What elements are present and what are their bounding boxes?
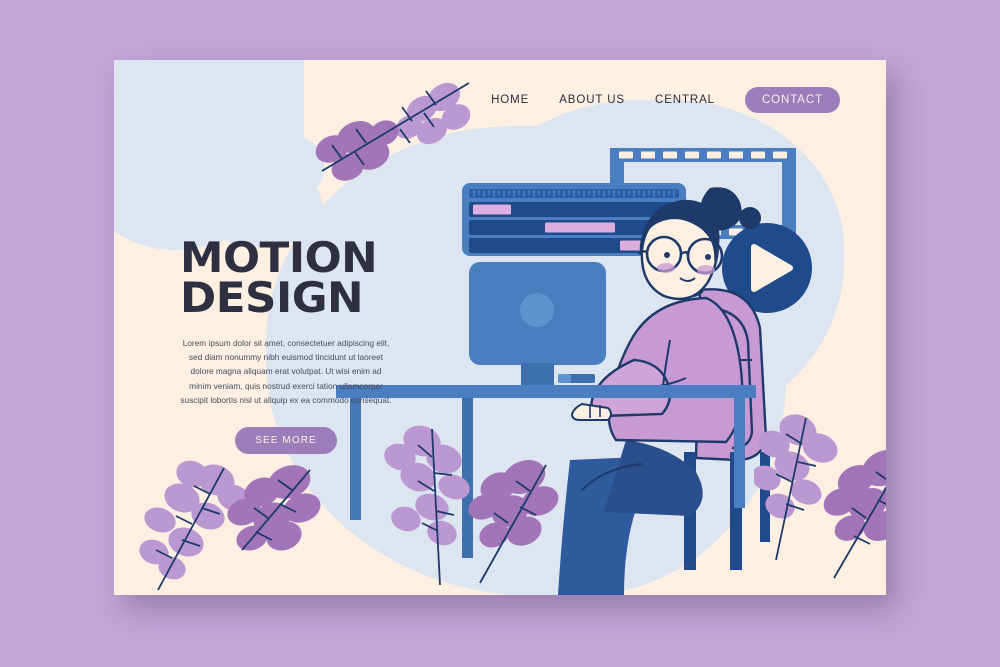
page-title-line-2: DESIGN	[180, 278, 400, 318]
nav-link-central[interactable]: CENTRAL	[655, 94, 715, 106]
landing-page-card: HOME ABOUT US CENTRAL CONTACT MOTION DES…	[114, 60, 886, 595]
page-root: HOME ABOUT US CENTRAL CONTACT MOTION DES…	[0, 0, 1000, 667]
leaf-branch-top-left	[304, 75, 474, 195]
main-navigation: HOME ABOUT US CENTRAL CONTACT	[491, 87, 840, 113]
page-title: MOTION DESIGN	[180, 238, 400, 318]
hero-section: MOTION DESIGN Lorem ipsum dolor sit amet…	[180, 238, 392, 454]
page-title-line-1: MOTION	[180, 238, 400, 278]
contact-button[interactable]: CONTACT	[745, 87, 840, 113]
leaf-branch-bottom-middle	[384, 415, 574, 590]
hero-body-text: Lorem ipsum dolor sit amet, consectetuer…	[180, 336, 392, 407]
monitor-graphic	[470, 263, 605, 385]
leaf-branch-bottom-left	[124, 450, 334, 595]
nav-link-home[interactable]: HOME	[491, 94, 529, 106]
see-more-button[interactable]: SEE MORE	[235, 427, 337, 454]
keyboard-graphic	[558, 374, 595, 383]
leaf-branch-bottom-right	[754, 410, 886, 590]
nav-link-about-us[interactable]: ABOUT US	[559, 94, 625, 106]
